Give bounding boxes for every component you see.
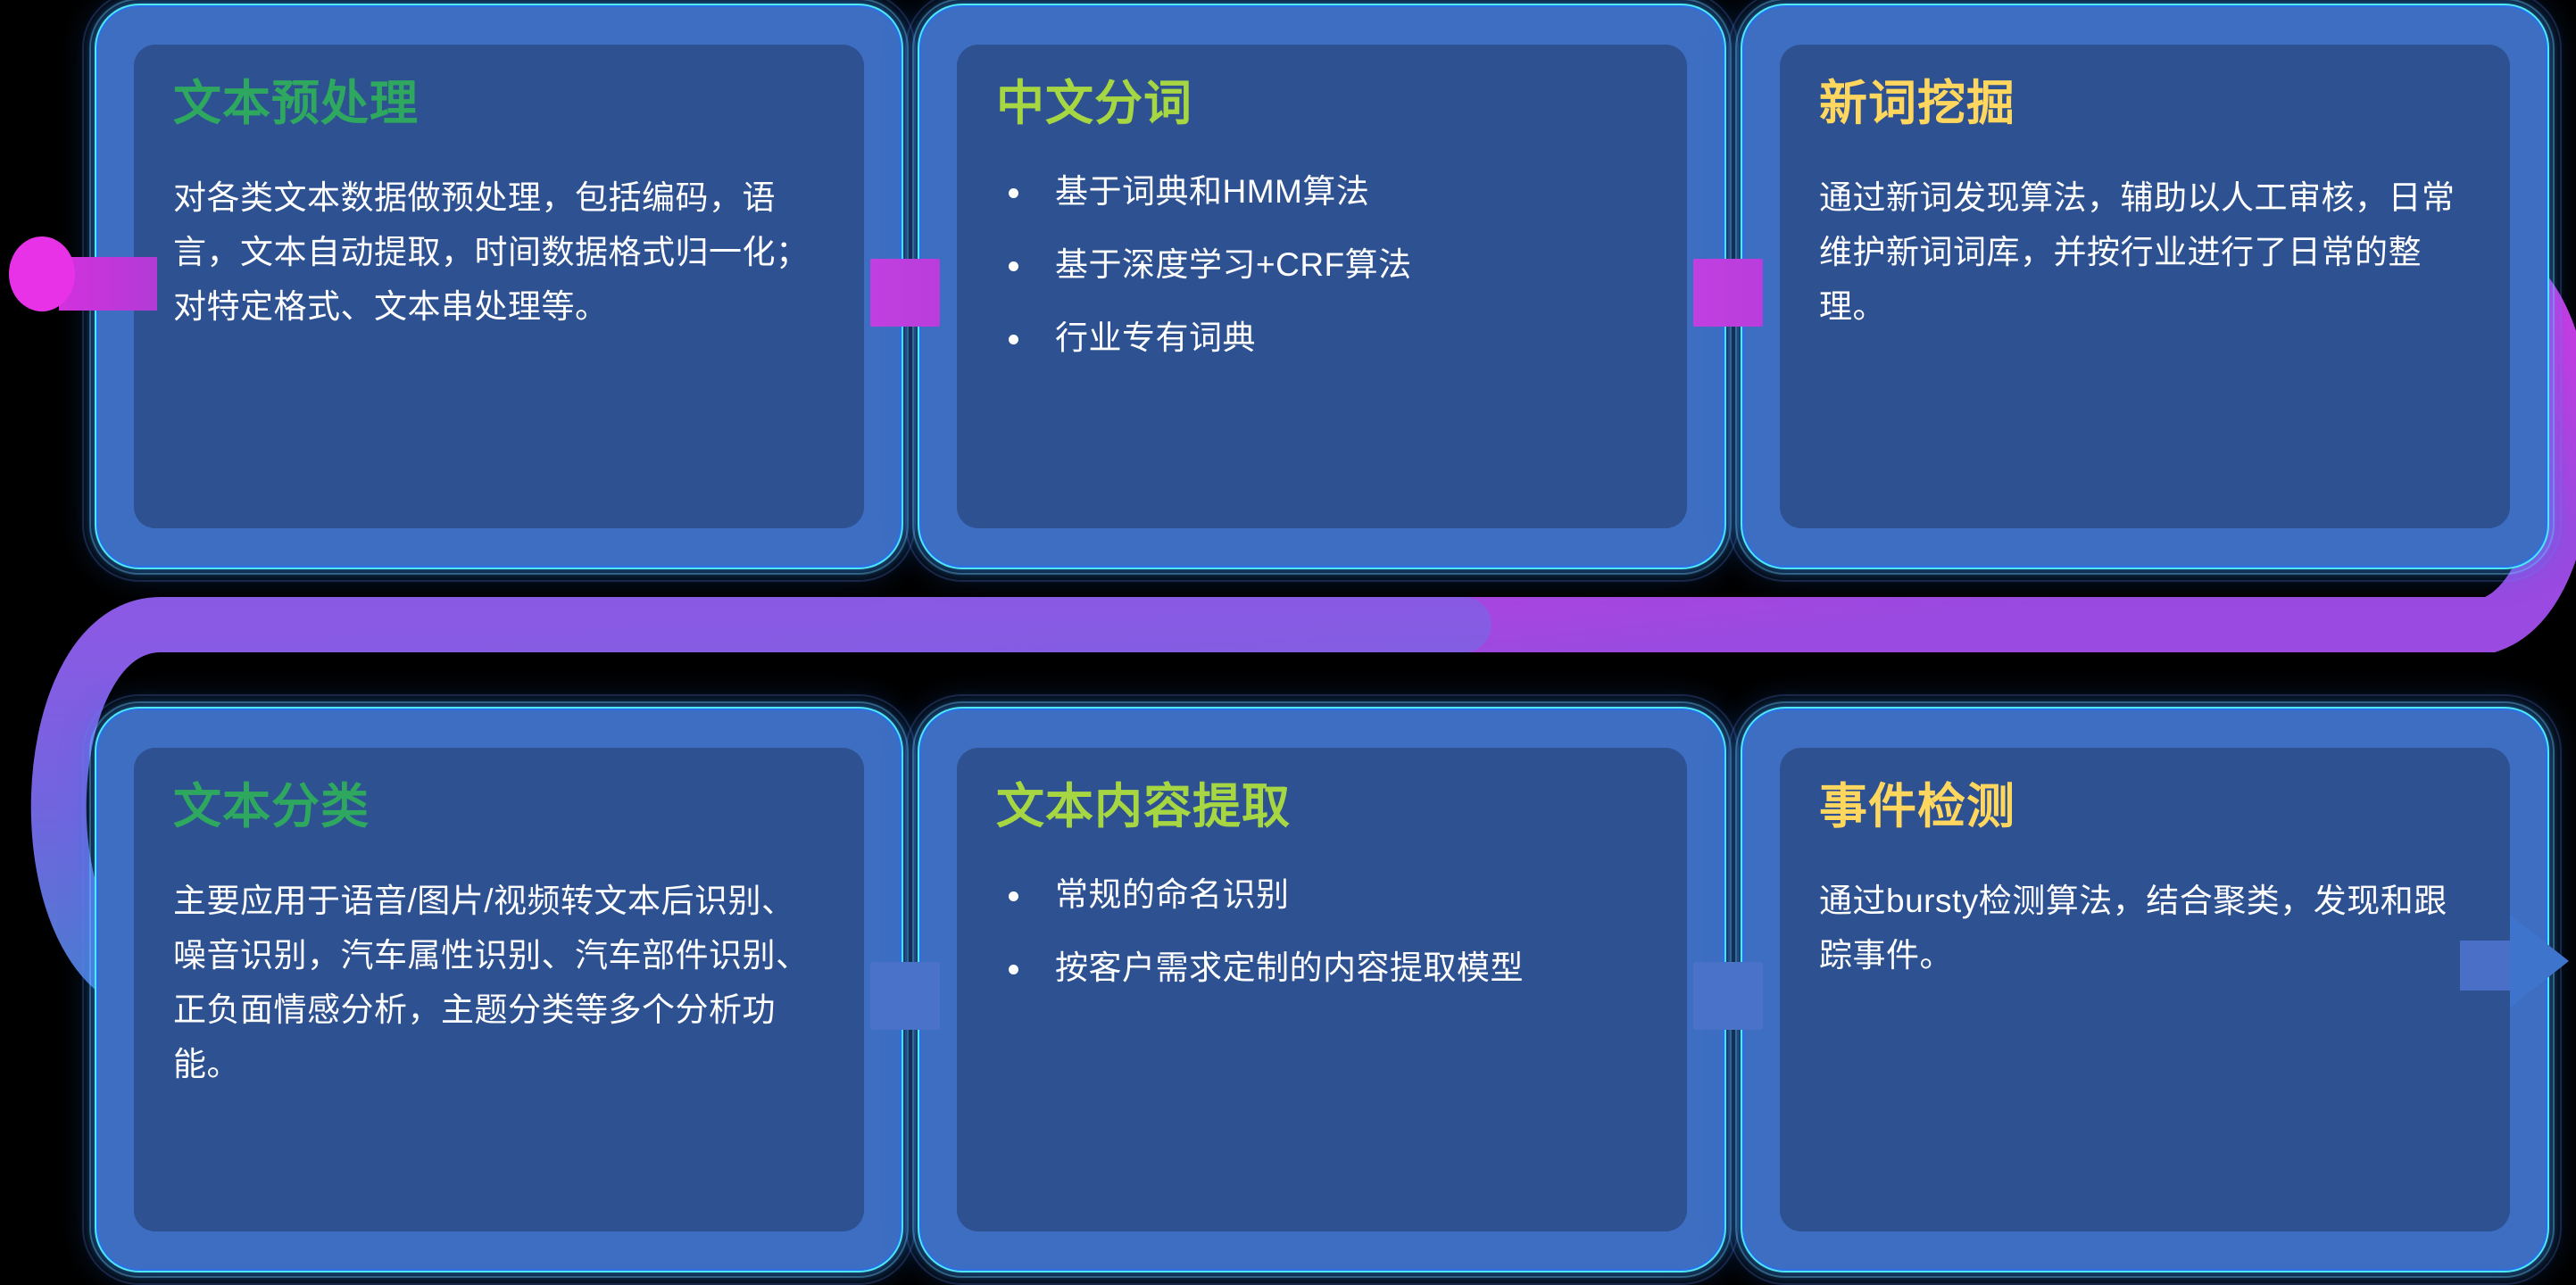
card-frame-text-content-extraction[interactable]: 文本内容提取 常规的命名识别 按客户需求定制的内容提取模型 [921,710,1723,1269]
card-text-classification: 文本分类 主要应用于语音/图片/视频转文本后识别、噪音识别，汽车属性识别、汽车部… [134,748,864,1231]
diagram-canvas: 文本预处理 对各类文本数据做预处理，包括编码，语言，文本自动提取，时间数据格式归… [0,0,2576,1277]
process-row-top: 文本预处理 对各类文本数据做预处理，包括编码，语言，文本自动提取，时间数据格式归… [98,7,2546,566]
card-paragraph: 通过bursty检测算法，结合聚类，发现和跟踪事件。 [1819,874,2471,982]
list-item: 行业专有词典 [996,317,1648,360]
process-row-bottom: 文本分类 主要应用于语音/图片/视频转文本后识别、噪音识别，汽车属性识别、汽车部… [98,710,2546,1269]
list-item: 基于词典和HMM算法 [996,170,1648,213]
card-frame-text-preprocessing[interactable]: 文本预处理 对各类文本数据做预处理，包括编码，语言，文本自动提取，时间数据格式归… [98,7,900,566]
arrow-right-icon [2510,915,2569,1007]
connector-card5-card6 [1693,962,1763,1030]
card-text-content-extraction: 文本内容提取 常规的命名识别 按客户需求定制的内容提取模型 [957,748,1687,1231]
bullet-text: 常规的命名识别 [1055,876,1290,913]
connector-card4-card5 [870,962,940,1030]
list-item: 按客户需求定制的内容提取模型 [996,947,1648,990]
card-title: 文本分类 [173,782,825,833]
card-event-detection: 事件检测 通过bursty检测算法，结合聚类，发现和跟踪事件。 [1780,748,2510,1231]
bullet-text: 基于词典和HMM算法 [1055,173,1369,210]
card-title: 中文分词 [996,79,1648,129]
bullet-text: 基于深度学习+CRF算法 [1055,246,1412,283]
card-bullet-list: 基于词典和HMM算法 基于深度学习+CRF算法 行业专有词典 [996,170,1648,360]
card-text-preprocessing: 文本预处理 对各类文本数据做预处理，包括编码，语言，文本自动提取，时间数据格式归… [134,45,864,528]
bullet-text: 行业专有词典 [1055,319,1256,356]
bullet-dot-icon [1009,335,1018,344]
card-bullet-list: 常规的命名识别 按客户需求定制的内容提取模型 [996,874,1648,990]
card-paragraph: 对各类文本数据做预处理，包括编码，语言，文本自动提取，时间数据格式归一化；对特定… [173,170,825,334]
end-connector-stem [2460,941,2515,991]
card-frame-text-classification[interactable]: 文本分类 主要应用于语音/图片/视频转文本后识别、噪音识别，汽车属性识别、汽车部… [98,710,900,1269]
card-frame-event-detection[interactable]: 事件检测 通过bursty检测算法，结合聚类，发现和跟踪事件。 [1744,710,2546,1269]
card-title: 文本内容提取 [996,782,1648,833]
card-chinese-word-segmentation: 中文分词 基于词典和HMM算法 基于深度学习+CRF算法 行业专有词典 [957,45,1687,528]
bullet-dot-icon [1009,261,1018,271]
card-title: 新词挖掘 [1819,79,2471,129]
card-new-word-mining: 新词挖掘 通过新词发现算法，辅助以人工审核，日常维护新词词库，并按行业进行了日常… [1780,45,2510,528]
card-frame-new-word-mining[interactable]: 新词挖掘 通过新词发现算法，辅助以人工审核，日常维护新词词库，并按行业进行了日常… [1744,7,2546,566]
card-title: 文本预处理 [173,79,825,129]
start-dot-icon [9,236,75,311]
bullet-dot-icon [1009,891,1018,901]
list-item: 常规的命名识别 [996,874,1648,916]
card-title: 事件检测 [1819,782,2471,833]
connector-card1-card2 [870,259,940,327]
card-paragraph: 主要应用于语音/图片/视频转文本后识别、噪音识别，汽车属性识别、汽车部件识别、正… [173,874,825,1091]
card-frame-chinese-word-segmentation[interactable]: 中文分词 基于词典和HMM算法 基于深度学习+CRF算法 行业专有词典 [921,7,1723,566]
card-paragraph: 通过新词发现算法，辅助以人工审核，日常维护新词词库，并按行业进行了日常的整理。 [1819,170,2471,334]
bullet-dot-icon [1009,188,1018,198]
connector-card2-card3 [1693,259,1763,327]
bullet-text: 按客户需求定制的内容提取模型 [1055,949,1524,986]
bullet-dot-icon [1009,965,1018,974]
list-item: 基于深度学习+CRF算法 [996,244,1648,286]
